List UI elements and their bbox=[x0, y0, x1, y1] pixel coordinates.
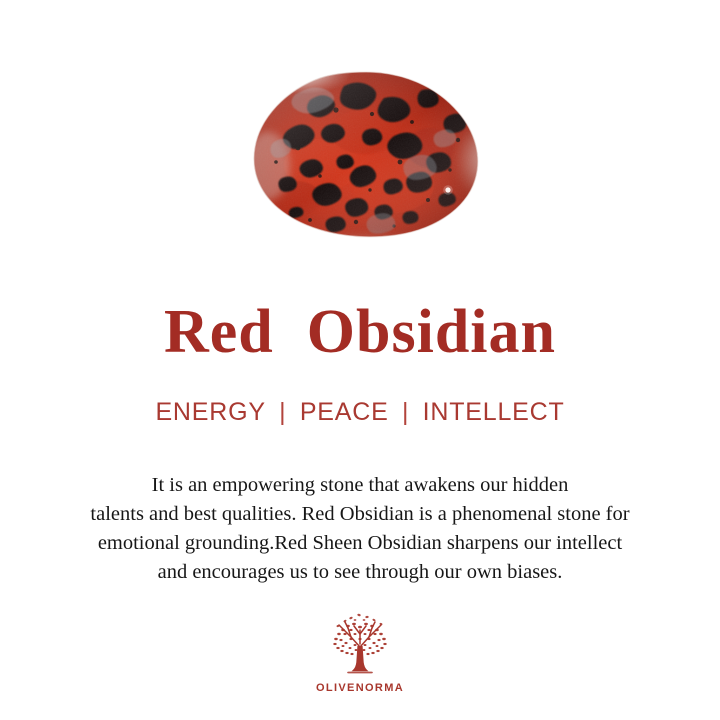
keyword-energy: ENERGY bbox=[155, 399, 265, 427]
keyword-separator: | bbox=[266, 399, 300, 427]
description-line: It is an empowering stone that awakens o… bbox=[14, 471, 706, 500]
gemstone-svg bbox=[252, 70, 482, 238]
description-line: and encourages us to see through our own… bbox=[14, 558, 706, 587]
olive-tree-icon bbox=[321, 612, 399, 680]
product-info-card: Red Obsidian ENERGY|PEACE|INTELLECT It i… bbox=[0, 0, 720, 720]
stone-body bbox=[252, 70, 482, 238]
description-text: It is an empowering stone that awakens o… bbox=[14, 471, 706, 587]
keyword-peace: PEACE bbox=[300, 399, 389, 427]
description-line: emotional grounding.Red Sheen Obsidian s… bbox=[14, 529, 706, 558]
gemstone-image bbox=[252, 70, 482, 238]
description-line: talents and best qualities. Red Obsidian… bbox=[14, 500, 706, 529]
keyword-list: ENERGY|PEACE|INTELLECT bbox=[0, 399, 720, 427]
brand-logo: OLIVENORMA bbox=[0, 612, 720, 694]
page-title: Red Obsidian bbox=[0, 301, 720, 363]
keyword-intellect: INTELLECT bbox=[423, 399, 565, 427]
brand-wordmark: OLIVENORMA bbox=[0, 682, 720, 694]
keyword-separator: | bbox=[389, 399, 423, 427]
